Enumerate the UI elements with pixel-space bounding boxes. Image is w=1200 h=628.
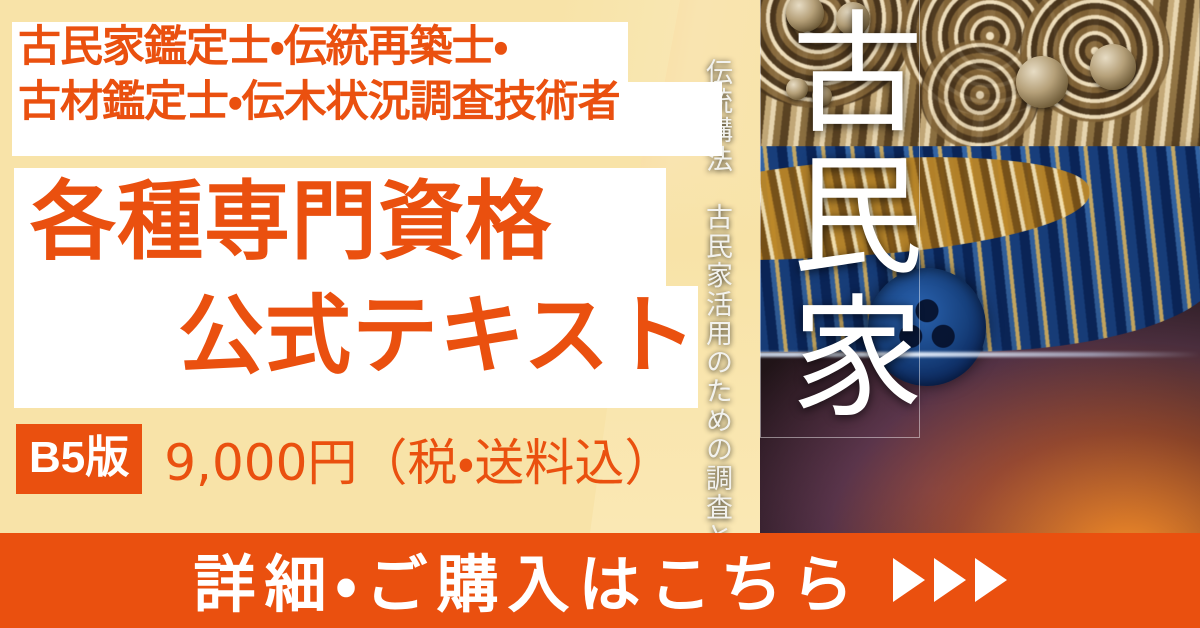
chevron-right-icon: [893, 558, 925, 602]
wood-knob-icon: [1016, 56, 1068, 108]
headline-line-1: 各種専門資格: [14, 166, 714, 280]
cta-arrows: [893, 558, 1007, 602]
cta-label: 詳細・ご購入はこちら: [193, 534, 862, 624]
cta-button[interactable]: 詳細・ご購入はこちら: [0, 533, 1200, 628]
price-text: 9,000円（税・送料込）: [164, 423, 674, 495]
chevron-right-icon: [934, 558, 966, 602]
wood-knob-icon: [1090, 44, 1136, 90]
page-title: 各種専門資格 公式テキスト: [14, 166, 714, 393]
headline-line-2: 公式テキスト: [14, 280, 714, 394]
chevron-right-icon: [975, 558, 1007, 602]
qualification-list: 古民家鑑定士・伝統再築士・ 古材鑑定士・伝木状況調査技術者: [18, 20, 728, 130]
cover-title: 古民家: [766, 4, 916, 434]
qualification-line-2: 古材鑑定士・伝木状況調査技術者: [18, 75, 728, 130]
promo-banner: 古民家 伝統構法 古民家活用のための調査と再生の 古民家鑑定士・伝統再築士・ 古…: [0, 0, 1200, 628]
qualification-line-1: 古民家鑑定士・伝統再築士・: [18, 20, 728, 75]
format-badge: B5版: [16, 424, 142, 494]
price-row: B5版 9,000円（税・送料込）: [16, 428, 674, 490]
